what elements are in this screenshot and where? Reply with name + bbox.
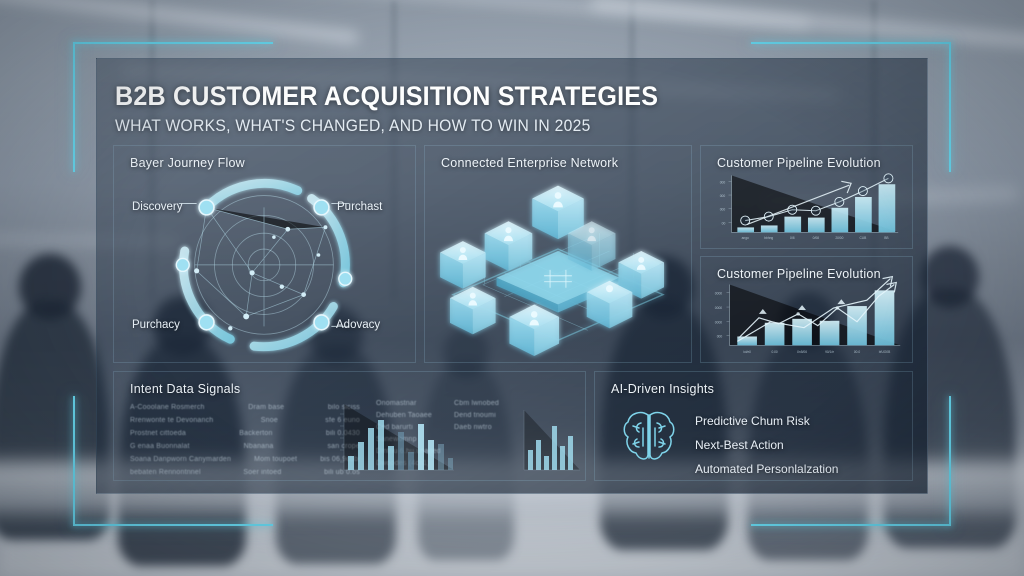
intent-row-meta: Snoe	[261, 417, 278, 424]
intent-row-name: G enaa Buonnalat	[130, 443, 190, 450]
panel-pipeline-bottom[interactable]: Customer Pipeline Evolution 00000000 000…	[700, 256, 913, 363]
intent-row-name: bebaten Rennontnnel	[130, 469, 201, 476]
panel-journey-flow[interactable]: Bayer Journey Flow	[113, 145, 416, 363]
frame-corner-top-left	[73, 42, 75, 172]
intent-right-label: Dend tnoumi	[454, 412, 496, 419]
intent-row-name: Soana Danpworn Canymarden	[130, 456, 231, 463]
header: B2B CUSTOMER ACQUISITION STRATEGIES WHAT…	[115, 81, 699, 136]
page-title: B2B CUSTOMER ACQUISITION STRATEGIES	[115, 81, 658, 112]
frame-corner-top-right	[949, 42, 951, 172]
intent-row-meta: Nbanana	[244, 443, 274, 450]
intent-row-meta: Backerton	[239, 430, 272, 437]
journey-label-purchacy: Purchacy	[132, 319, 180, 331]
journey-label-advocacy: Adovacy	[336, 319, 380, 331]
frame-corner-bottom-left	[73, 396, 75, 526]
svg-text:bbhng: bbhng	[764, 236, 773, 240]
table-row[interactable]: Soana Danpworn Canymarden Mom toupoet bi…	[130, 456, 360, 463]
svg-text:20/00: 20/00	[835, 236, 843, 240]
svg-text:00: 00	[722, 221, 726, 225]
frame-corner-bottom-left	[73, 524, 273, 526]
intent-row-meta: Dram base	[248, 404, 284, 411]
infographic-board: B2B CUSTOMER ACQUISITION STRATEGIES WHAT…	[96, 58, 928, 494]
svg-text:0000: 0000	[715, 306, 723, 310]
intent-row-name: Prostnet cittoeda	[130, 430, 186, 437]
intent-histogram-right	[522, 406, 582, 476]
table-row[interactable]: A-Cooolane Rosmerch Dram base bilo sicis…	[130, 404, 360, 411]
table-row[interactable]: Rrenwonte te Devonanch Snoe sfe 6 euno	[130, 417, 360, 424]
intent-row-name: Rrenwonte te Devonanch	[130, 417, 213, 424]
table-row[interactable]: G enaa Buonnalat Nbanana san crope	[130, 443, 360, 450]
intent-row-meta: Mom toupoet	[254, 456, 297, 463]
panel-ai-insights[interactable]: AI-Driven Insights Predictive Chum Risk …	[594, 371, 913, 481]
svg-text:90/1/e: 90/1/e	[825, 350, 834, 354]
svg-text:000: 000	[717, 334, 723, 338]
panel-enterprise-network[interactable]: Connected Enterprise Network	[424, 145, 692, 363]
panel-title-intent: Intent Data Signals	[130, 382, 240, 396]
svg-text:0/8: 0/8	[790, 236, 795, 240]
pipeline-chart-top: 000000 00000	[701, 146, 912, 248]
svg-text:BB: BB	[884, 236, 888, 240]
frame-corner-bottom-right	[949, 396, 951, 526]
svg-text:0000: 0000	[715, 291, 723, 295]
svg-text:ango: ango	[742, 236, 749, 240]
svg-text:ioi/e0: ioi/e0	[743, 350, 751, 354]
table-row[interactable]: bebaten Rennontnnel Soer intoed bili ub …	[130, 469, 360, 476]
svg-text:0000: 0000	[715, 321, 723, 325]
pipeline-chart-bottom: 00000000 0000000	[701, 257, 912, 362]
intent-right-label: Daeb nwtro	[454, 424, 492, 431]
network-isometric-diagram	[425, 146, 691, 362]
svg-text:CUB: CUB	[859, 236, 866, 240]
ai-insight-item[interactable]: Automated Personlalzation	[695, 462, 838, 476]
ai-insight-item[interactable]: Predictive Chum Risk	[695, 414, 810, 428]
svg-text:000: 000	[720, 180, 726, 184]
journey-label-purchase: Purchast	[337, 201, 382, 213]
svg-text:0n5/06: 0n5/06	[797, 350, 807, 354]
list-item[interactable]: Cbm lwnobed	[454, 400, 499, 407]
frame-corner-bottom-right	[751, 524, 951, 526]
svg-text:bfUO0B: bfUO0B	[879, 350, 890, 354]
page-subtitle: WHAT WORKS, WHAT'S CHANGED, AND HOW TO W…	[115, 117, 670, 136]
svg-text:00.0: 00.0	[854, 350, 860, 354]
panel-pipeline-top[interactable]: Customer Pipeline Evolution 000000 00000	[700, 145, 913, 249]
svg-text:0/08: 0/08	[813, 236, 819, 240]
frame-corner-top-right	[751, 42, 951, 44]
panel-title-ai: AI-Driven Insights	[611, 382, 714, 396]
ai-insight-item[interactable]: Next-Best Action	[695, 438, 784, 452]
svg-text:0.00: 0.00	[771, 350, 777, 354]
list-item[interactable]: Daeb nwtro	[454, 424, 492, 431]
brain-icon	[621, 406, 677, 468]
list-item[interactable]: Dend tnoumi	[454, 412, 496, 419]
intent-right-label: Cbm lwnobed	[454, 400, 499, 407]
svg-text:000: 000	[720, 208, 726, 212]
panel-intent-data-signals[interactable]: Intent Data Signals A-Cooolane Rosmerch …	[113, 371, 586, 481]
intent-row-name: A-Cooolane Rosmerch	[130, 404, 205, 411]
journey-label-discovery: Discovery	[132, 201, 182, 213]
intent-histogram-left	[336, 400, 456, 476]
svg-text:000: 000	[720, 194, 726, 198]
frame-corner-top-left	[73, 42, 273, 44]
table-row[interactable]: Prostnet cittoeda Backerton bili 0.0430	[130, 430, 360, 437]
intent-row-meta: Soer intoed	[243, 469, 281, 476]
